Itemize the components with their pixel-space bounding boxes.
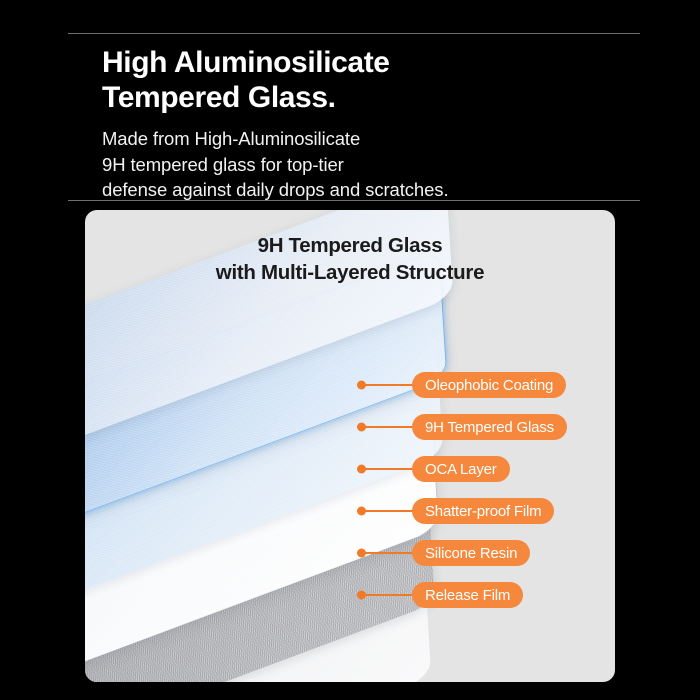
callout-label-shatter[interactable]: Shatter-proof Film <box>412 498 554 524</box>
divider-bottom <box>68 200 640 201</box>
callout-label-glass[interactable]: 9H Tempered Glass <box>412 414 567 440</box>
callout-label-oleophobic[interactable]: Oleophobic Coating <box>412 372 566 398</box>
page-title: High Aluminosilicate Tempered Glass. <box>102 45 622 115</box>
header-block: High Aluminosilicate Tempered Glass. Mad… <box>102 45 622 203</box>
callout-label-silicone[interactable]: Silicone Resin <box>412 540 530 566</box>
callout-list: Oleophobic Coating 9H Tempered Glass OCA… <box>85 210 615 682</box>
infographic-root: High Aluminosilicate Tempered Glass. Mad… <box>0 0 700 700</box>
callout-leader-line <box>365 384 415 386</box>
callout-label-oca[interactable]: OCA Layer <box>412 456 510 482</box>
page-title-line-2: Tempered Glass. <box>102 80 622 115</box>
callout-leader-line <box>365 552 415 554</box>
callout-leader-line <box>365 468 415 470</box>
callout-leader-line <box>365 426 415 428</box>
page-subtitle-line-2: 9H tempered glass for top-tier <box>102 152 622 178</box>
callout-leader-line <box>365 510 415 512</box>
diagram-panel: 9H Tempered Glass with Multi-Layered Str… <box>85 210 615 682</box>
page-subtitle: Made from High-Aluminosilicate 9H temper… <box>102 126 622 203</box>
divider-top <box>68 33 640 34</box>
page-subtitle-line-3: defense against daily drops and scratche… <box>102 177 622 203</box>
page-title-line-1: High Aluminosilicate <box>102 45 622 80</box>
page-subtitle-line-1: Made from High-Aluminosilicate <box>102 126 622 152</box>
callout-label-release[interactable]: Release Film <box>412 582 523 608</box>
callout-leader-line <box>365 594 415 596</box>
